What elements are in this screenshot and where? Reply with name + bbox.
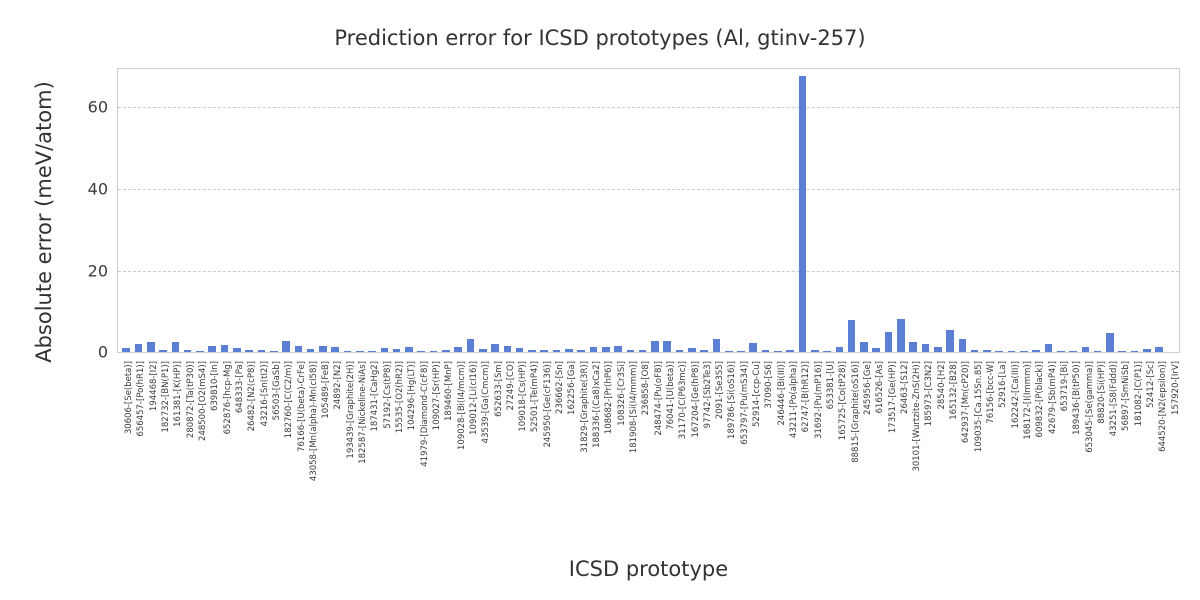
bar-slot — [710, 69, 722, 352]
x-tick-slot: 245956-[Ge] — [858, 355, 870, 555]
bar-slot — [895, 69, 907, 352]
bar-slot — [919, 69, 931, 352]
bar-slot — [907, 69, 919, 352]
x-tick-slot: 24892-[N2] — [328, 355, 340, 555]
bar[interactable] — [430, 351, 438, 352]
x-tick-slot: 653719-[Bi] — [1055, 355, 1067, 555]
bar[interactable] — [393, 349, 401, 352]
bar-slot — [218, 69, 230, 352]
bar-slot — [1079, 69, 1091, 352]
bar[interactable] — [258, 350, 266, 352]
bar-slot — [833, 69, 845, 352]
x-tick-slot: 2091-[Se3S5] — [710, 355, 722, 555]
y-tick-60: 60 — [62, 98, 108, 117]
bar-slot — [636, 69, 648, 352]
bar-slot — [858, 69, 870, 352]
x-tick-slot: 109018-[Cs(HP)] — [513, 355, 525, 555]
bar[interactable] — [872, 348, 880, 352]
bar-slot — [1104, 69, 1116, 352]
x-tick-slot: 648333-[Pa] — [230, 355, 242, 555]
x-tick-slot: 28540-[H2] — [932, 355, 944, 555]
bar-slot — [145, 69, 157, 352]
x-tick-slot: 189786-[Si(oS16)] — [722, 355, 734, 555]
bar[interactable] — [540, 350, 548, 353]
bar-slot — [1018, 69, 1030, 352]
x-tick-slot: 165725-[Co(tP28)] — [833, 355, 845, 555]
bar-slot — [181, 69, 193, 352]
bar-slot — [255, 69, 267, 352]
bar-slot — [944, 69, 956, 352]
x-tick-slot: 52412-[Sc] — [1141, 355, 1153, 555]
x-tick-slot: 15535-[O2(hR2)] — [390, 355, 402, 555]
x-tick-slot: 76156-[bcc-W] — [981, 355, 993, 555]
x-tick-slot: 31692-[Pu(mP16)] — [809, 355, 821, 555]
bar[interactable] — [368, 351, 376, 352]
x-tick-slot: 43539-[Ga(Cmcm)] — [476, 355, 488, 555]
bar[interactable] — [688, 348, 696, 352]
bar-slot — [132, 69, 144, 352]
x-tick-slot: 26463-[S12] — [895, 355, 907, 555]
bar[interactable] — [1143, 349, 1151, 352]
x-tick-slot: 109027-[Sr(HP)] — [427, 355, 439, 555]
x-tick-slot: 52914-[ccp-Cu] — [747, 355, 759, 555]
bar[interactable] — [442, 350, 450, 353]
bar[interactable] — [1155, 347, 1163, 352]
y-tick-20: 20 — [62, 262, 108, 281]
x-tick-slot: 37090-[S6] — [759, 355, 771, 555]
x-tick-slot: 56503-[GaSb] — [267, 355, 279, 555]
bar-slot — [932, 69, 944, 352]
bar-slot — [723, 69, 735, 352]
x-tick-slot: 31829-[Graphite(3R)] — [575, 355, 587, 555]
bar-slot — [600, 69, 612, 352]
x-tick-slot: 194468-[I2] — [144, 355, 156, 555]
bar-slot — [1042, 69, 1054, 352]
bar-slot — [427, 69, 439, 352]
x-tick-slot: 76041-[U(beta)] — [661, 355, 673, 555]
x-tick-slot: 104296-[Hg(LT)] — [402, 355, 414, 555]
bar[interactable] — [922, 344, 930, 352]
x-tick-slot: 616526-[As] — [870, 355, 882, 555]
bar-slot — [686, 69, 698, 352]
bar[interactable] — [1118, 351, 1126, 352]
bar[interactable] — [799, 76, 807, 352]
bar-slot — [1005, 69, 1017, 352]
x-tick-slot: 653381-[U] — [821, 355, 833, 555]
y-tick-40: 40 — [62, 180, 108, 199]
x-tick-slot: 52916-[La] — [993, 355, 1005, 555]
x-tick-slot: 189460-[MnP] — [439, 355, 451, 555]
x-tick-slot: 27249-[CO] — [501, 355, 513, 555]
bar-slot — [796, 69, 808, 352]
bar[interactable] — [577, 350, 585, 353]
bar[interactable] — [516, 348, 524, 352]
bar-slot — [821, 69, 833, 352]
bar[interactable] — [319, 346, 327, 352]
x-tick-slot: 182732-[BN(P1)] — [156, 355, 168, 555]
x-tick-slot: 236662-[Sn] — [550, 355, 562, 555]
plot-area — [117, 68, 1180, 353]
bar-slot — [526, 69, 538, 352]
x-tick-slot: 43211-[Po(alpha)] — [784, 355, 796, 555]
bar[interactable] — [1094, 351, 1102, 352]
bar[interactable] — [836, 347, 844, 352]
bar[interactable] — [897, 319, 905, 352]
x-tick-slot: 42679-[Sb(mP4)] — [1042, 355, 1054, 555]
bar[interactable] — [1008, 351, 1016, 352]
x-tick-slot: 97742-[Sb2Te3] — [698, 355, 710, 555]
bar[interactable] — [614, 346, 622, 352]
x-tick-slot: 182587-[Nickeline-NiAs] — [353, 355, 365, 555]
bar-slot — [747, 69, 759, 352]
bar-slot — [735, 69, 747, 352]
x-axis-label: ICSD prototype — [117, 557, 1180, 581]
x-tick-slot: 52501-[Te(mP4)] — [525, 355, 537, 555]
bar[interactable] — [381, 348, 389, 352]
bar-slot — [661, 69, 673, 352]
bar-slot — [846, 69, 858, 352]
x-tick-slot: 189436-[B(tP50)] — [1067, 355, 1079, 555]
bar-slot — [280, 69, 292, 352]
chart-title: Prediction error for ICSD prototypes (Al… — [0, 26, 1200, 50]
bar[interactable] — [663, 341, 671, 352]
x-tick-slot: 43251-[S8(Fddd)] — [1104, 355, 1116, 555]
x-tick-slot: 280872-[Ta(tP30)] — [181, 355, 193, 555]
bar-slot — [759, 69, 771, 352]
bar[interactable] — [295, 346, 303, 352]
x-tick-slot: 88820-[Si(HP)] — [1092, 355, 1104, 555]
bar-slot — [772, 69, 784, 352]
bar[interactable] — [221, 345, 229, 352]
x-tick-slot: 642937-[Mn(cP20)] — [956, 355, 968, 555]
bar[interactable] — [565, 349, 573, 352]
bar[interactable] — [159, 350, 167, 353]
bar[interactable] — [282, 341, 290, 352]
bar[interactable] — [762, 350, 770, 352]
x-tick-slot: 245950-[Ge(cF136)] — [538, 355, 550, 555]
x-tick-slot: 193439-[Graphite(2H)] — [341, 355, 353, 555]
bar[interactable] — [270, 351, 278, 352]
bar[interactable] — [995, 351, 1003, 352]
bar[interactable] — [1082, 347, 1090, 352]
bar[interactable] — [983, 350, 991, 352]
x-tick-slot: 173517-[Ge(HP)] — [882, 355, 894, 555]
bar[interactable] — [811, 350, 819, 352]
bar[interactable] — [676, 350, 684, 352]
bar-slot — [366, 69, 378, 352]
bar[interactable] — [860, 342, 868, 352]
bar-slot — [403, 69, 415, 352]
x-tick-slot: 182760-[C(C2/m)] — [279, 355, 291, 555]
x-tick-slot: 652633-[Sm] — [488, 355, 500, 555]
y-axis-label: Absolute error (meV/atom) — [32, 32, 56, 412]
bar[interactable] — [590, 347, 598, 352]
x-tick-slot: 652876-[hcp-Mg] — [218, 355, 230, 555]
bar[interactable] — [639, 350, 647, 352]
bar[interactable] — [491, 344, 499, 352]
bar[interactable] — [528, 350, 536, 352]
bar[interactable] — [1069, 351, 1077, 352]
bar-slot — [575, 69, 587, 352]
bar-slot — [268, 69, 280, 352]
bar[interactable] — [713, 339, 721, 352]
bar-slot — [784, 69, 796, 352]
bar-slot — [391, 69, 403, 352]
bar[interactable] — [147, 342, 155, 352]
bar[interactable] — [405, 347, 413, 352]
bar-slot — [673, 69, 685, 352]
bar[interactable] — [848, 320, 856, 352]
bar-slot — [698, 69, 710, 352]
x-tick-slot: 181908-[Si(I4/mmm)] — [624, 355, 636, 555]
bar-slot — [329, 69, 341, 352]
bar[interactable] — [479, 349, 487, 352]
bar-slot — [563, 69, 575, 352]
x-tick-slot: 236858-[O8] — [636, 355, 648, 555]
x-tick-slot: 30606-[Se(beta)] — [119, 355, 131, 555]
bar-slot — [501, 69, 513, 352]
bar[interactable] — [700, 350, 708, 352]
bar[interactable] — [946, 330, 954, 352]
bar-slot — [1116, 69, 1128, 352]
bar-slot — [157, 69, 169, 352]
bar-slot — [649, 69, 661, 352]
x-tick-slot: 43216-[Sn(tI2)] — [254, 355, 266, 555]
bar[interactable] — [1045, 344, 1053, 352]
bar[interactable] — [885, 332, 893, 352]
bar[interactable] — [135, 344, 143, 352]
x-tick-slot: 161381-[K(HP)] — [168, 355, 180, 555]
bar-slot — [1128, 69, 1140, 352]
bar[interactable] — [184, 350, 192, 352]
bar[interactable] — [344, 351, 352, 352]
bar-slot — [341, 69, 353, 352]
bar-slot — [243, 69, 255, 352]
bar-slot — [194, 69, 206, 352]
x-tick-slot: 188336-[(Ca8)xCa2] — [587, 355, 599, 555]
bar-slot — [956, 69, 968, 352]
bar[interactable] — [417, 351, 425, 352]
bar[interactable] — [467, 339, 475, 352]
x-tick-slot: 88815-[Graphite(oS16)] — [845, 355, 857, 555]
x-tick-slot: 248500-[O2(mS4)] — [193, 355, 205, 555]
x-tick-slot: 109028-[Bi(I4/mcm)] — [451, 355, 463, 555]
bar-slot — [440, 69, 452, 352]
bar[interactable] — [786, 350, 794, 352]
x-tick-slot: 181082-[C(P1)] — [1129, 355, 1141, 555]
bar[interactable] — [774, 351, 782, 352]
bar[interactable] — [196, 351, 204, 352]
bar-slot — [550, 69, 562, 352]
x-tick-slot: 644520-[N2(epsilon)] — [1153, 355, 1165, 555]
x-tick-slot: 41979-[Diamond-C(cF8)] — [415, 355, 427, 555]
bar[interactable] — [909, 342, 917, 352]
x-tick-slot: 639810-[In] — [205, 355, 217, 555]
bar[interactable] — [749, 343, 757, 352]
bar-slot — [452, 69, 464, 352]
bar[interactable] — [627, 350, 635, 352]
bar-slot — [1153, 69, 1165, 352]
bar-slot — [1165, 69, 1177, 352]
bar-slot — [378, 69, 390, 352]
x-tick-slot: 167204-[Ge(hP8)] — [685, 355, 697, 555]
bar[interactable] — [737, 351, 745, 352]
bar[interactable] — [1020, 351, 1028, 352]
bar[interactable] — [454, 347, 462, 352]
x-tick-slot: 30101-[Wurtzite-ZnS(2H)] — [907, 355, 919, 555]
bar-slot — [612, 69, 624, 352]
x-tick-slot: 187431-[CaHg2] — [365, 355, 377, 555]
bar-slot — [206, 69, 218, 352]
bar-slot — [1091, 69, 1103, 352]
x-tick-slot: 43058-[Mn(alpha)-Mn(cI58)] — [304, 355, 316, 555]
bar-slot — [993, 69, 1005, 352]
bar-slot — [477, 69, 489, 352]
x-tick-slot: 56897-[SmNiSb] — [1116, 355, 1128, 555]
bar-slot — [120, 69, 132, 352]
x-axis-ticks: 30606-[Se(beta)]656457-[Po(hR1)]194468-[… — [117, 355, 1180, 555]
x-tick-slot: 246446-[Bi(III)] — [772, 355, 784, 555]
bar[interactable] — [602, 347, 610, 352]
bar[interactable] — [823, 351, 831, 352]
y-tick-0: 0 — [62, 343, 108, 362]
bar[interactable] — [971, 350, 979, 352]
bar-slot — [464, 69, 476, 352]
bar-slot — [809, 69, 821, 352]
x-tick-slot: 157920-[IrV] — [1166, 355, 1178, 555]
x-tick-slot: 165132-[B28] — [944, 355, 956, 555]
bar-slot — [514, 69, 526, 352]
bar-slot — [317, 69, 329, 352]
bar[interactable] — [1131, 351, 1139, 352]
x-tick-slot: 108682-[Pr(hP6)] — [599, 355, 611, 555]
x-tick-label: 157920-[IrV] — [1172, 361, 1181, 415]
bar[interactable] — [934, 347, 942, 352]
bar-slot — [292, 69, 304, 352]
x-tick-slot: 162256-[Ga] — [562, 355, 574, 555]
bar-slot — [870, 69, 882, 352]
x-tick-slot: 108326-[Cr3Si] — [612, 355, 624, 555]
bar-slot — [169, 69, 181, 352]
x-tick-slot: 248474-[Pu(oF8)] — [648, 355, 660, 555]
bar-slot — [968, 69, 980, 352]
chart-figure: Prediction error for ICSD prototypes (Al… — [0, 0, 1200, 600]
x-tick-slot: 185973-[C3N2] — [919, 355, 931, 555]
x-tick-slot: 168172-[I(Immm)] — [1018, 355, 1030, 555]
bar-slot — [882, 69, 894, 352]
bar-series — [118, 69, 1179, 352]
bar[interactable] — [356, 351, 364, 352]
x-tick-slot: 653045-[Se(gamma)] — [1079, 355, 1091, 555]
bar[interactable] — [1106, 333, 1114, 352]
bar[interactable] — [245, 350, 253, 352]
bar[interactable] — [331, 347, 339, 352]
x-tick-slot: 26482-[N2(cP8)] — [242, 355, 254, 555]
bar[interactable] — [172, 342, 180, 352]
bar-slot — [1055, 69, 1067, 352]
bar-slot — [538, 69, 550, 352]
bar[interactable] — [208, 346, 216, 352]
bar-slot — [231, 69, 243, 352]
x-tick-slot: 609832-[P(black)] — [1030, 355, 1042, 555]
bar[interactable] — [959, 339, 967, 352]
bar[interactable] — [553, 350, 561, 352]
bar[interactable] — [504, 346, 512, 352]
x-tick-slot: 62747-[B(hR12)] — [796, 355, 808, 555]
x-tick-slot: 57192-[Cs(tP8)] — [378, 355, 390, 555]
bar[interactable] — [122, 348, 130, 352]
x-tick-slot: 656457-[Po(hR1)] — [131, 355, 143, 555]
bar[interactable] — [651, 341, 659, 352]
bar[interactable] — [307, 349, 315, 352]
bar[interactable] — [1057, 351, 1065, 352]
bar[interactable] — [1032, 350, 1040, 352]
x-tick-slot: 109035-[Ca.15Sn.85] — [969, 355, 981, 555]
bar-slot — [624, 69, 636, 352]
bar-slot — [304, 69, 316, 352]
bar-slot — [415, 69, 427, 352]
x-tick-slot: 109012-[Li(cI16)] — [464, 355, 476, 555]
bar[interactable] — [725, 351, 733, 352]
bar-slot — [587, 69, 599, 352]
x-tick-slot: 31170-[C(P63mc)] — [673, 355, 685, 555]
bar-slot — [489, 69, 501, 352]
bar-slot — [354, 69, 366, 352]
bar-slot — [1141, 69, 1153, 352]
bar-slot — [1030, 69, 1042, 352]
x-tick-slot: 76166-[U(beta)-CrFe] — [291, 355, 303, 555]
bar[interactable] — [233, 348, 241, 352]
x-tick-slot: 162242-[Ca(III)] — [1006, 355, 1018, 555]
x-tick-slot: 653797-[Pu(mS34)] — [735, 355, 747, 555]
bar-slot — [981, 69, 993, 352]
x-tick-slot: 105489-[FeB] — [316, 355, 328, 555]
bar-slot — [1067, 69, 1079, 352]
